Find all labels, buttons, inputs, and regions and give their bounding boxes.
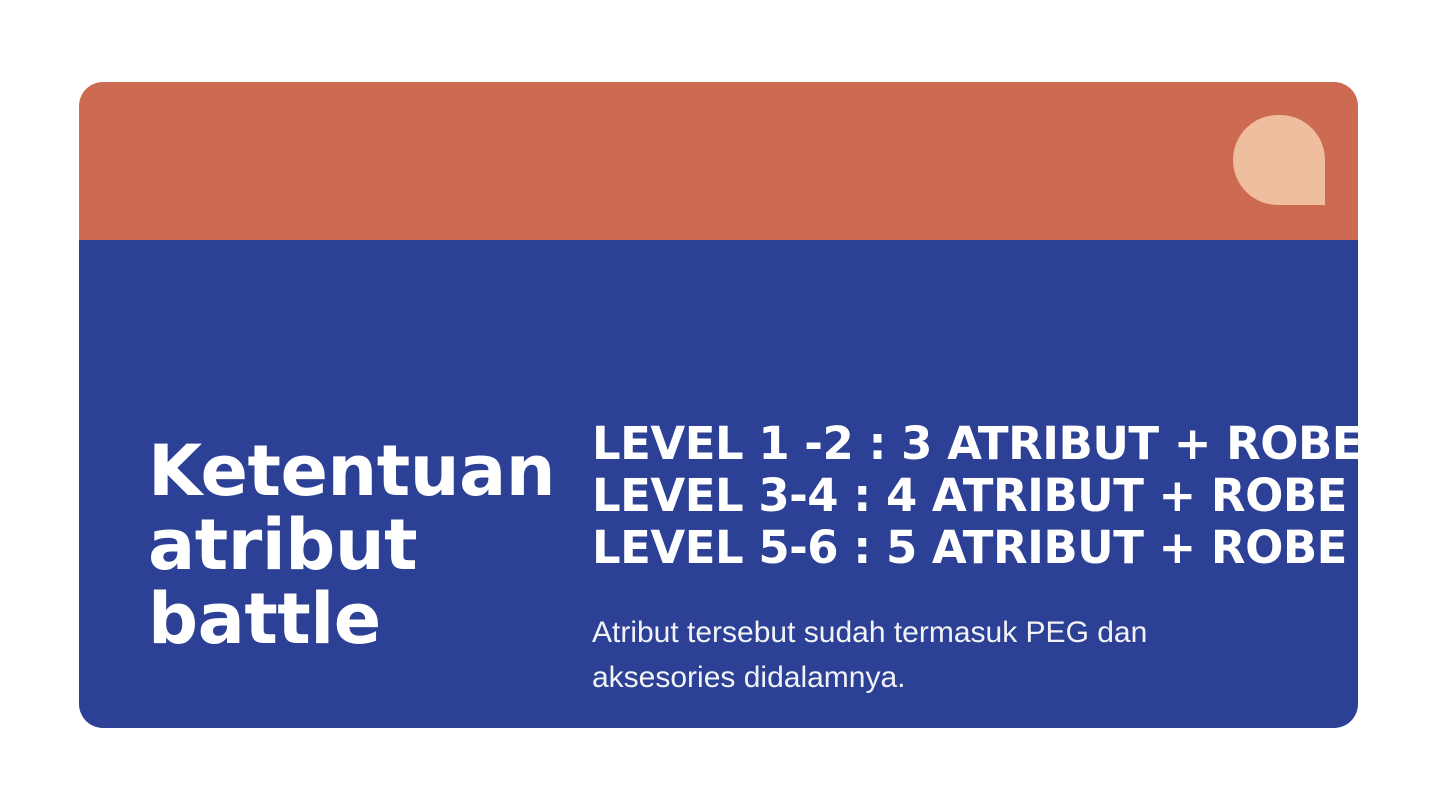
info-card: Ketentuan atribut battle LEVEL 1 -2 : 3 … (79, 82, 1358, 728)
rule-line-level-5-6: LEVEL 5-6 : 5 ATRIBUT + ROBE (592, 522, 1292, 574)
rule-line-level-3-4: LEVEL 3-4 : 4 ATRIBUT + ROBE (592, 470, 1292, 522)
page-title: Ketentuan atribut battle (148, 434, 568, 657)
arch-decoration-icon (1233, 115, 1325, 205)
note-text: Atribut tersebut sudah termasuk PEG dan … (592, 610, 1212, 700)
card-header-band (79, 82, 1358, 240)
slide-canvas: Ketentuan atribut battle LEVEL 1 -2 : 3 … (0, 0, 1439, 810)
card-content: Ketentuan atribut battle LEVEL 1 -2 : 3 … (79, 240, 1358, 728)
rules-list: LEVEL 1 -2 : 3 ATRIBUT + ROBE LEVEL 3-4 … (592, 418, 1292, 574)
rule-line-level-1-2: LEVEL 1 -2 : 3 ATRIBUT + ROBE (592, 418, 1292, 470)
